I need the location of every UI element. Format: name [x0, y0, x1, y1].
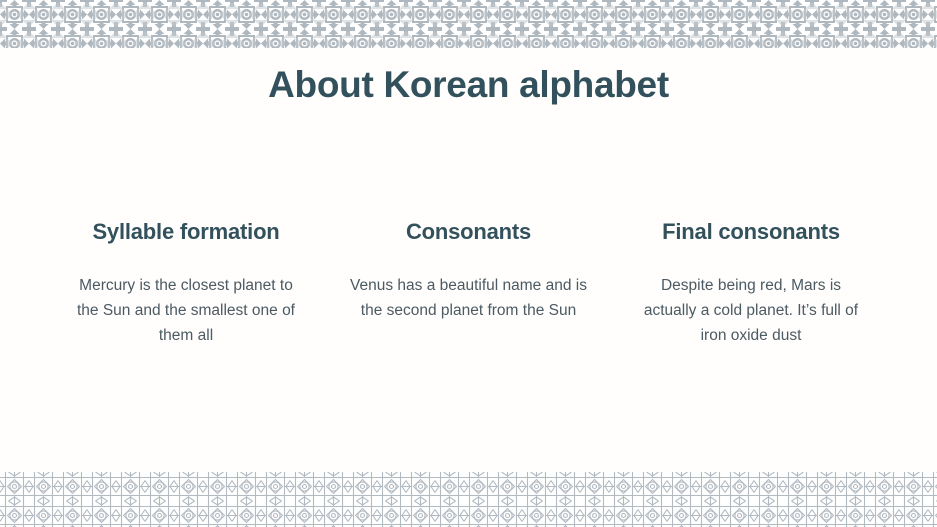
slide: About Korean alphabet Syllable formation…: [0, 0, 937, 527]
column-heading: Consonants: [335, 218, 603, 247]
column-heading: Syllable formation: [52, 218, 320, 247]
column-consonants: Consonants Venus has a beautiful name an…: [335, 218, 603, 323]
column-body-text: Mercury is the closest planet to the Sun…: [75, 273, 297, 348]
column-body-text: Despite being red, Mars is actually a co…: [638, 273, 864, 348]
column-body-text: Venus has a beautiful name and is the se…: [349, 273, 589, 323]
geometric-pattern-band-top: [0, 0, 937, 48]
page-title: About Korean alphabet: [0, 62, 937, 108]
column-syllable-formation: Syllable formation Mercury is the closes…: [52, 218, 320, 348]
columns-container: Syllable formation Mercury is the closes…: [52, 218, 885, 348]
column-heading: Final consonants: [617, 218, 885, 247]
column-final-consonants: Final consonants Despite being red, Mars…: [617, 218, 885, 348]
geometric-pattern-band-bottom: [0, 472, 937, 527]
